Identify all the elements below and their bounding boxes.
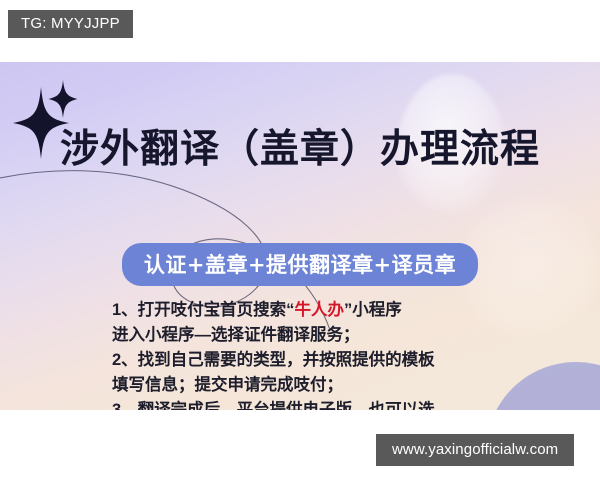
poster-card: 涉外翻译（盖章）办理流程 认证+盖章+提供翻译章+译员章 1、打开吱付宝首页搜索… xyxy=(0,62,600,410)
list-item: 进入小程序—选择证件翻译服务； xyxy=(112,323,512,348)
list-item: 2、找到自己需要的类型，并按照提供的模板 xyxy=(112,348,512,373)
badge-row: 认证+盖章+提供翻译章+译员章 xyxy=(0,243,600,286)
status-badge: 认证+盖章+提供翻译章+译员章 xyxy=(122,243,478,286)
website-url-tag: www.yaxingofficialw.com xyxy=(376,434,574,466)
list-item: 3、翻译完成后，平台提供电子版，也可以选 xyxy=(112,398,512,410)
list-item: 1、打开吱付宝首页搜索“牛人办”小程序 xyxy=(112,298,512,323)
page-title: 涉外翻译（盖章）办理流程 xyxy=(0,118,600,174)
sparkle-small-icon xyxy=(48,80,78,118)
list-item: 填写信息；提交申请完成吱付； xyxy=(112,373,512,398)
step-1-highlight: 牛人办 xyxy=(294,301,344,319)
steps-list: 1、打开吱付宝首页搜索“牛人办”小程序 进入小程序—选择证件翻译服务； 2、找到… xyxy=(112,298,512,410)
step-1-text-b: ”小程序 xyxy=(344,301,402,319)
tg-handle-tag: TG: MYYJJPP xyxy=(8,10,133,38)
step-1-text-a: 1、打开吱付宝首页搜索“ xyxy=(112,301,294,319)
